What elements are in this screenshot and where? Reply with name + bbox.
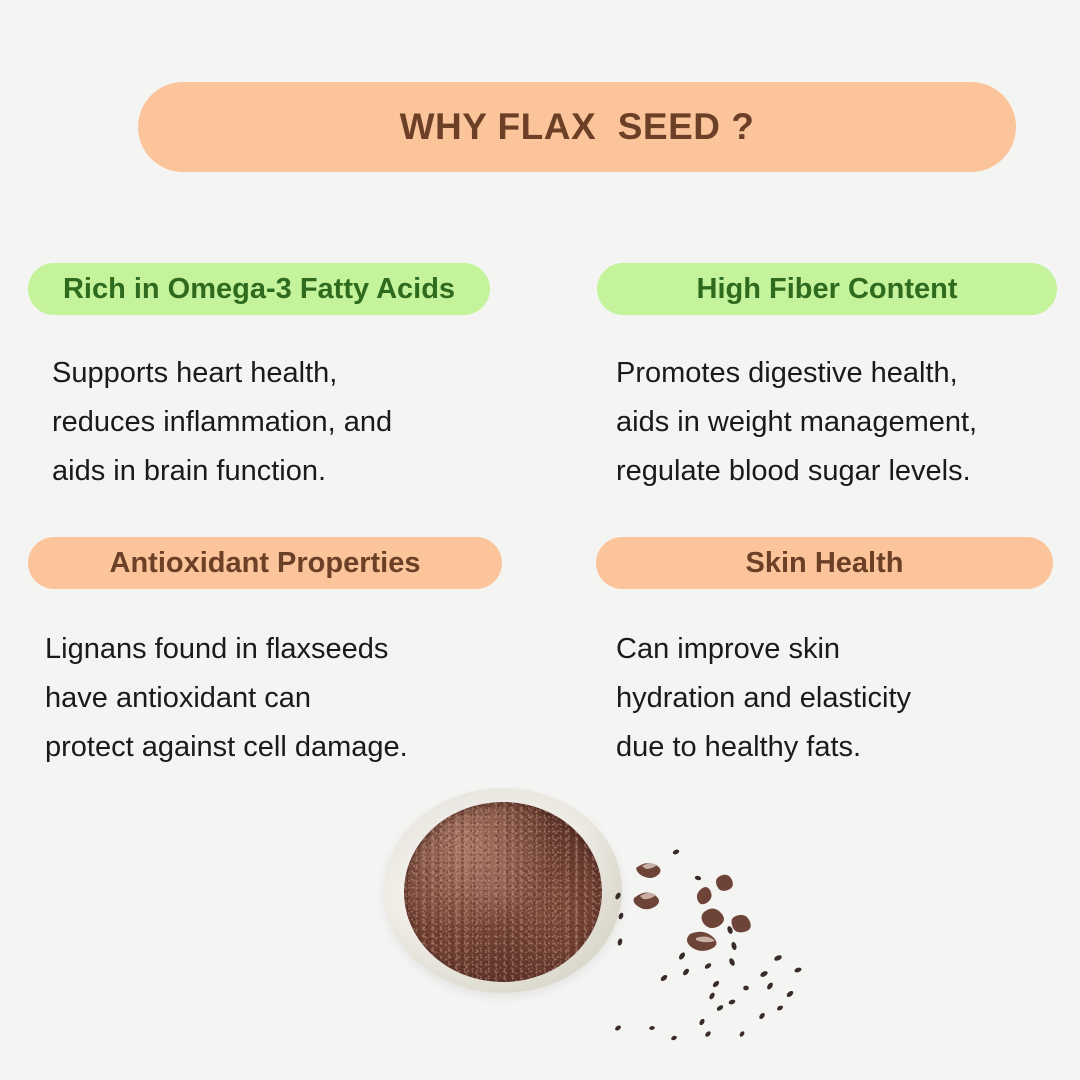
bowl-shape: [384, 788, 622, 993]
description-omega-3: Supports heart health, reduces inflammat…: [52, 349, 522, 496]
scattered-flaxseeds-image: [612, 838, 822, 1046]
description-antioxidant: Lignans found in flaxseeds have antioxid…: [45, 625, 525, 772]
flaxseed-bowl-image: [384, 788, 622, 993]
badge-label-high-fiber: High Fiber Content: [697, 273, 958, 306]
seed-grain-texture: [404, 802, 602, 982]
scattered-seeds-svg: [612, 838, 822, 1046]
badge-omega-3: Rich in Omega-3 Fatty Acids: [28, 263, 490, 315]
description-high-fiber: Promotes digestive health, aids in weigh…: [616, 349, 1076, 496]
description-skin-health: Can improve skin hydration and elasticit…: [616, 625, 1066, 772]
badge-skin-health: Skin Health: [596, 537, 1053, 589]
badge-label-omega-3: Rich in Omega-3 Fatty Acids: [63, 273, 455, 306]
infographic-canvas: WHY FLAX SEED ? Rich in Omega-3 Fatty Ac…: [0, 0, 1080, 1080]
badge-label-antioxidant: Antioxidant Properties: [110, 547, 421, 580]
badge-high-fiber: High Fiber Content: [597, 263, 1057, 315]
page-title: WHY FLAX SEED ?: [400, 106, 755, 148]
badge-label-skin-health: Skin Health: [746, 547, 904, 580]
bowl-seed-fill: [404, 802, 602, 982]
page-title-pill: WHY FLAX SEED ?: [138, 82, 1016, 172]
badge-antioxidant: Antioxidant Properties: [28, 537, 502, 589]
